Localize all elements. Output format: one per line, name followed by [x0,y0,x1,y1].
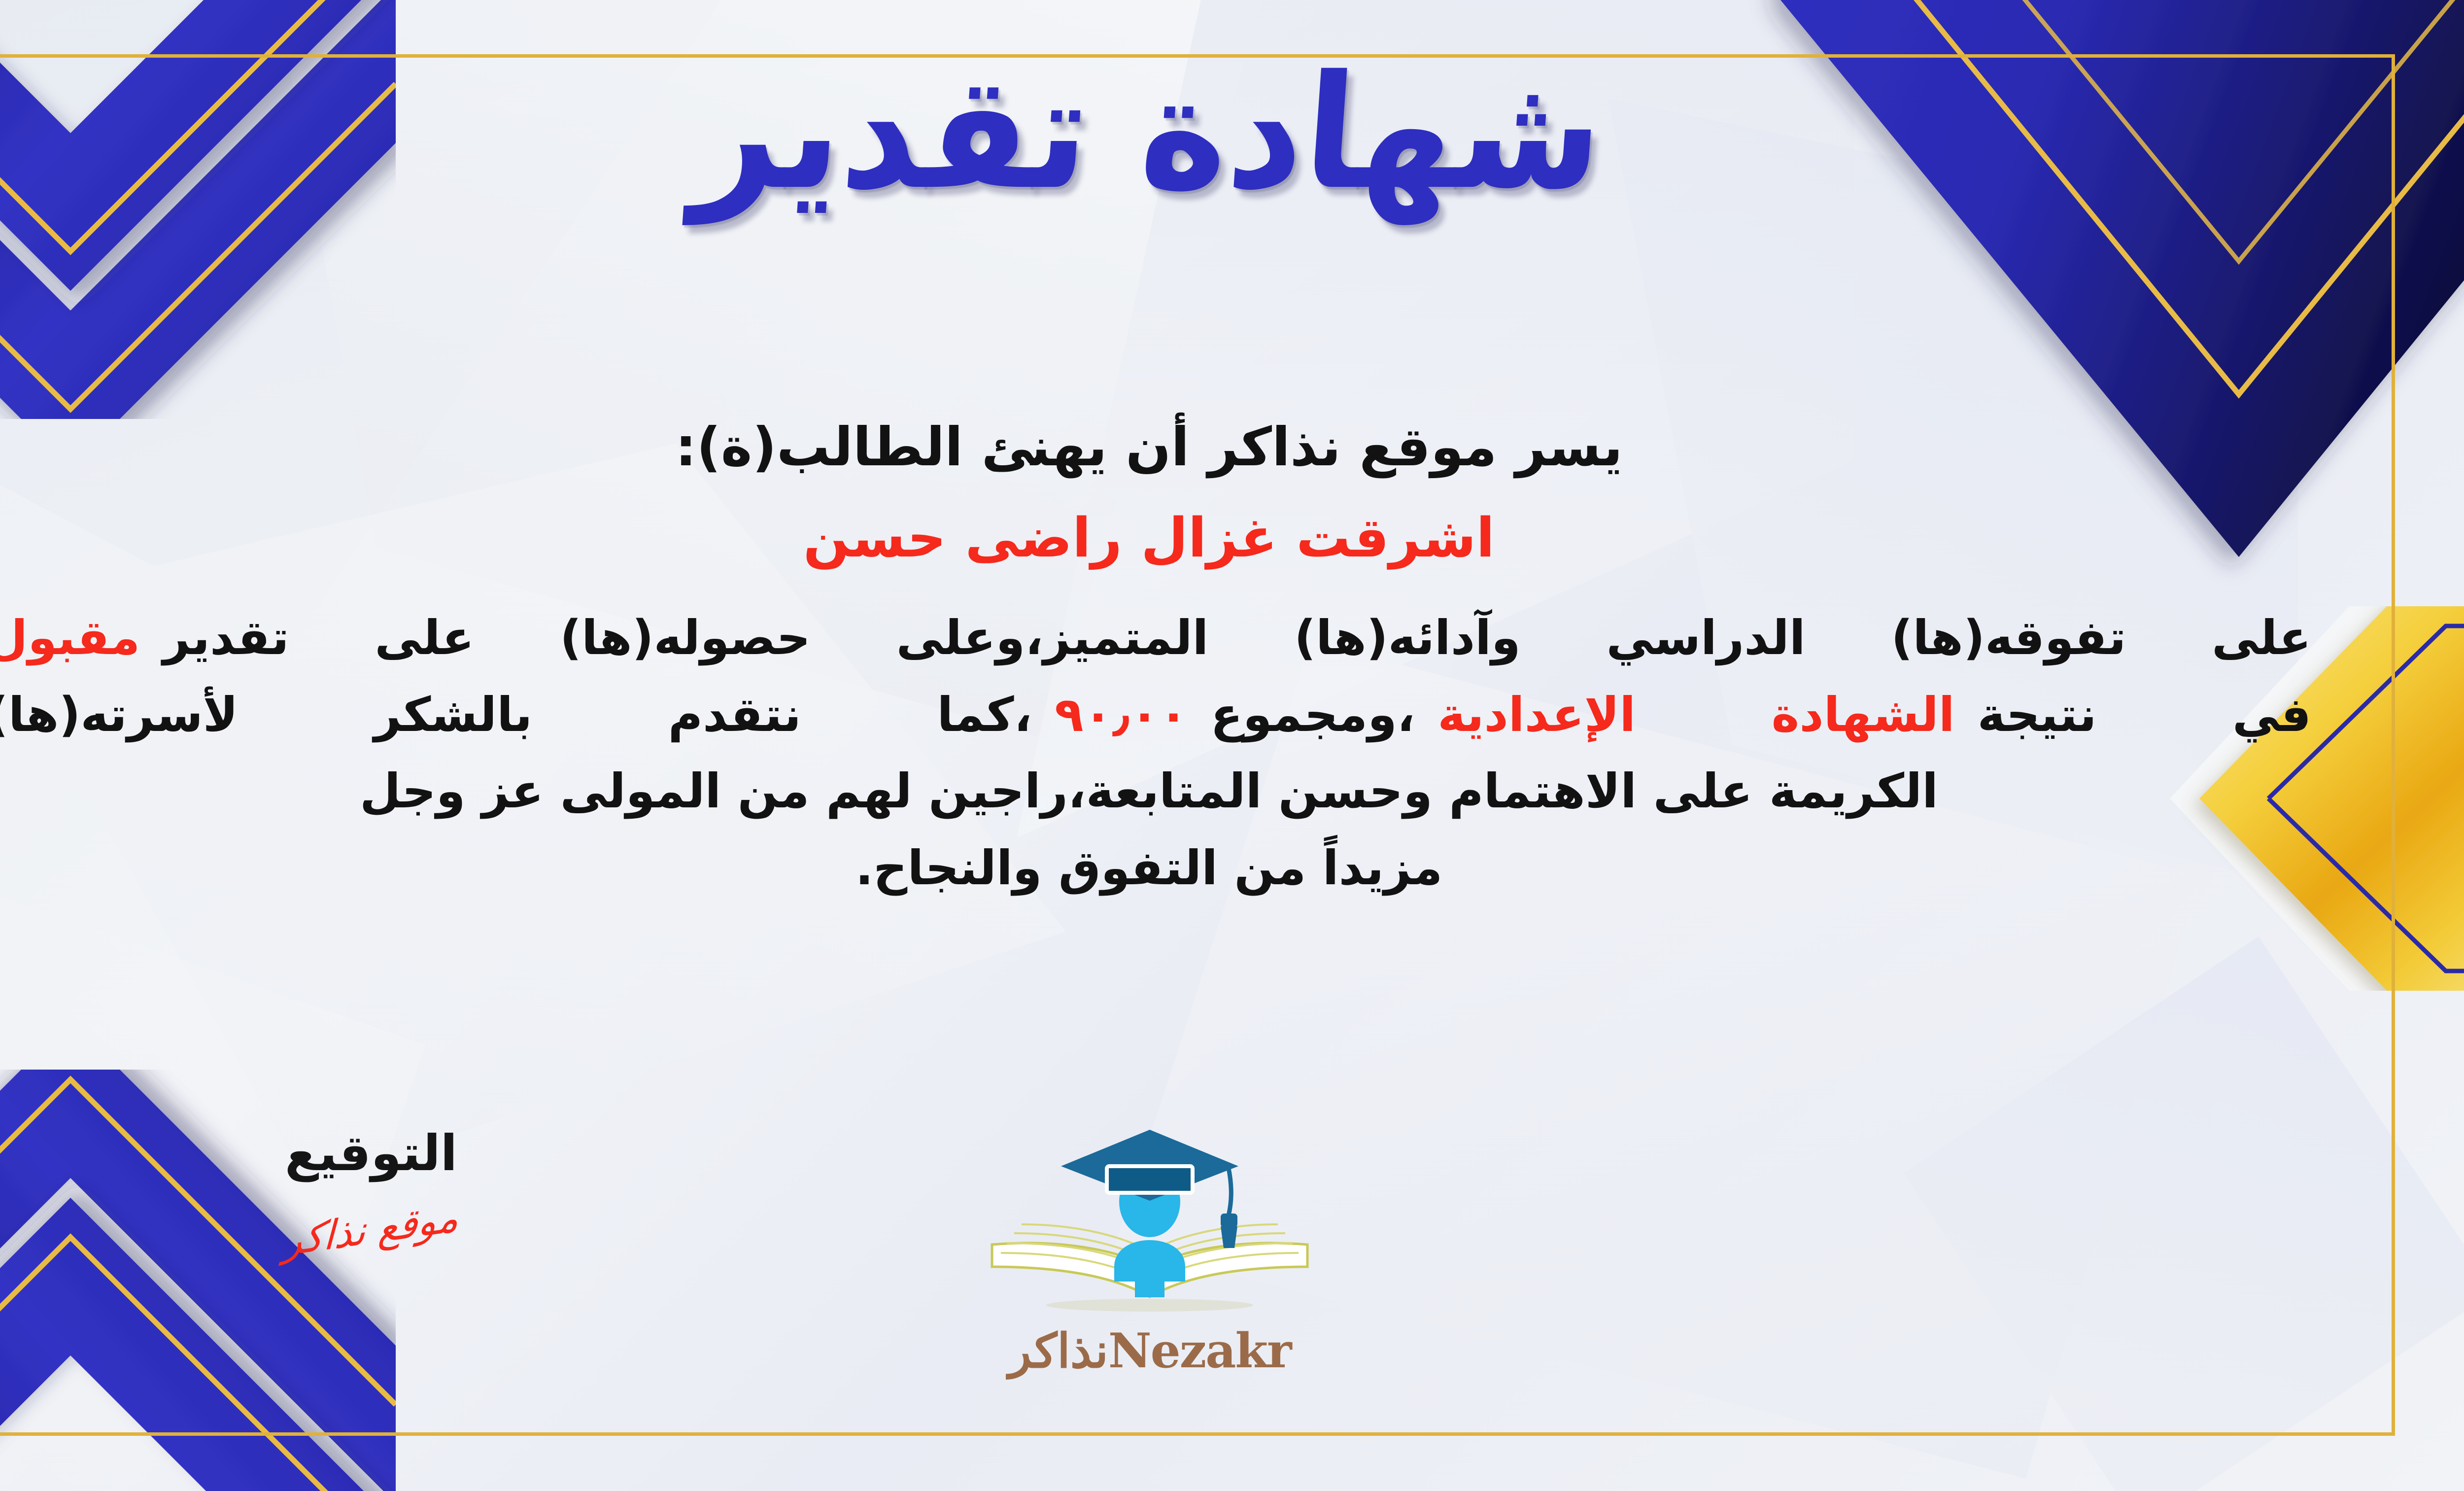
signature-block: التوقيع موقع نذاكر [218,1129,524,1252]
signature-mark: موقع نذاكر [283,1194,460,1265]
citation-paragraph: على تفوقه(ها) الدراسي وآدائه(ها) المتميز… [0,600,2311,906]
certificate-body: يسر موقع نذاكر أن يهنئ الطالب(ة): اشرقت … [0,414,2311,906]
brand-logo-block: Nezakrنذاكر [962,1119,1337,1379]
citation-line-2-suffix: ،كما نتقدم بالشكر لأسرته(ها) [0,687,1032,742]
certificate-footer: التوقيع موقع نذاكر [0,1129,2464,1444]
graduate-book-logo-icon [962,1119,1337,1326]
citation-line-2-mid: ،ومجموع [1210,687,1415,742]
brand-wordmark: Nezakrنذاكر [962,1323,1337,1379]
brand-latin: Nezakr [1108,1323,1291,1379]
citation-line-2: في نتيجةالشهادة الإعدادية،ومجموع٩٠٫٠٠،كم… [0,677,2311,754]
citation-line-2-prefix: في نتيجة [1978,687,2311,742]
grade-value: مقبول [0,610,140,665]
citation-line-3: الكريمة على الاهتمام وحسن المتابعة،راجين… [0,753,2311,830]
citation-line-1: على تفوقه(ها) الدراسي وآدائه(ها) المتميز… [0,600,2311,677]
citation-line-4: مزيداً من التفوق والنجاح. [0,830,2311,907]
brand-arabic: نذاكر [1008,1323,1108,1379]
lead-text: يسر موقع نذاكر أن يهنئ الطالب(ة): [0,414,2311,481]
certificate-page: شهادة تقدير يسر موقع نذاكر أن يهنئ الطال… [0,0,2464,1491]
signature-label: التوقيع [218,1129,524,1178]
student-name: اشرقت غزال راضى حسن [0,506,2311,569]
top-left-blue-chevron [0,0,396,419]
exam-name: الشهادة الإعدادية [1437,687,1954,742]
score-value: ٩٠٫٠٠ [1055,687,1188,742]
citation-line-1-text: على تفوقه(ها) الدراسي وآدائه(ها) المتميز… [163,610,2311,665]
